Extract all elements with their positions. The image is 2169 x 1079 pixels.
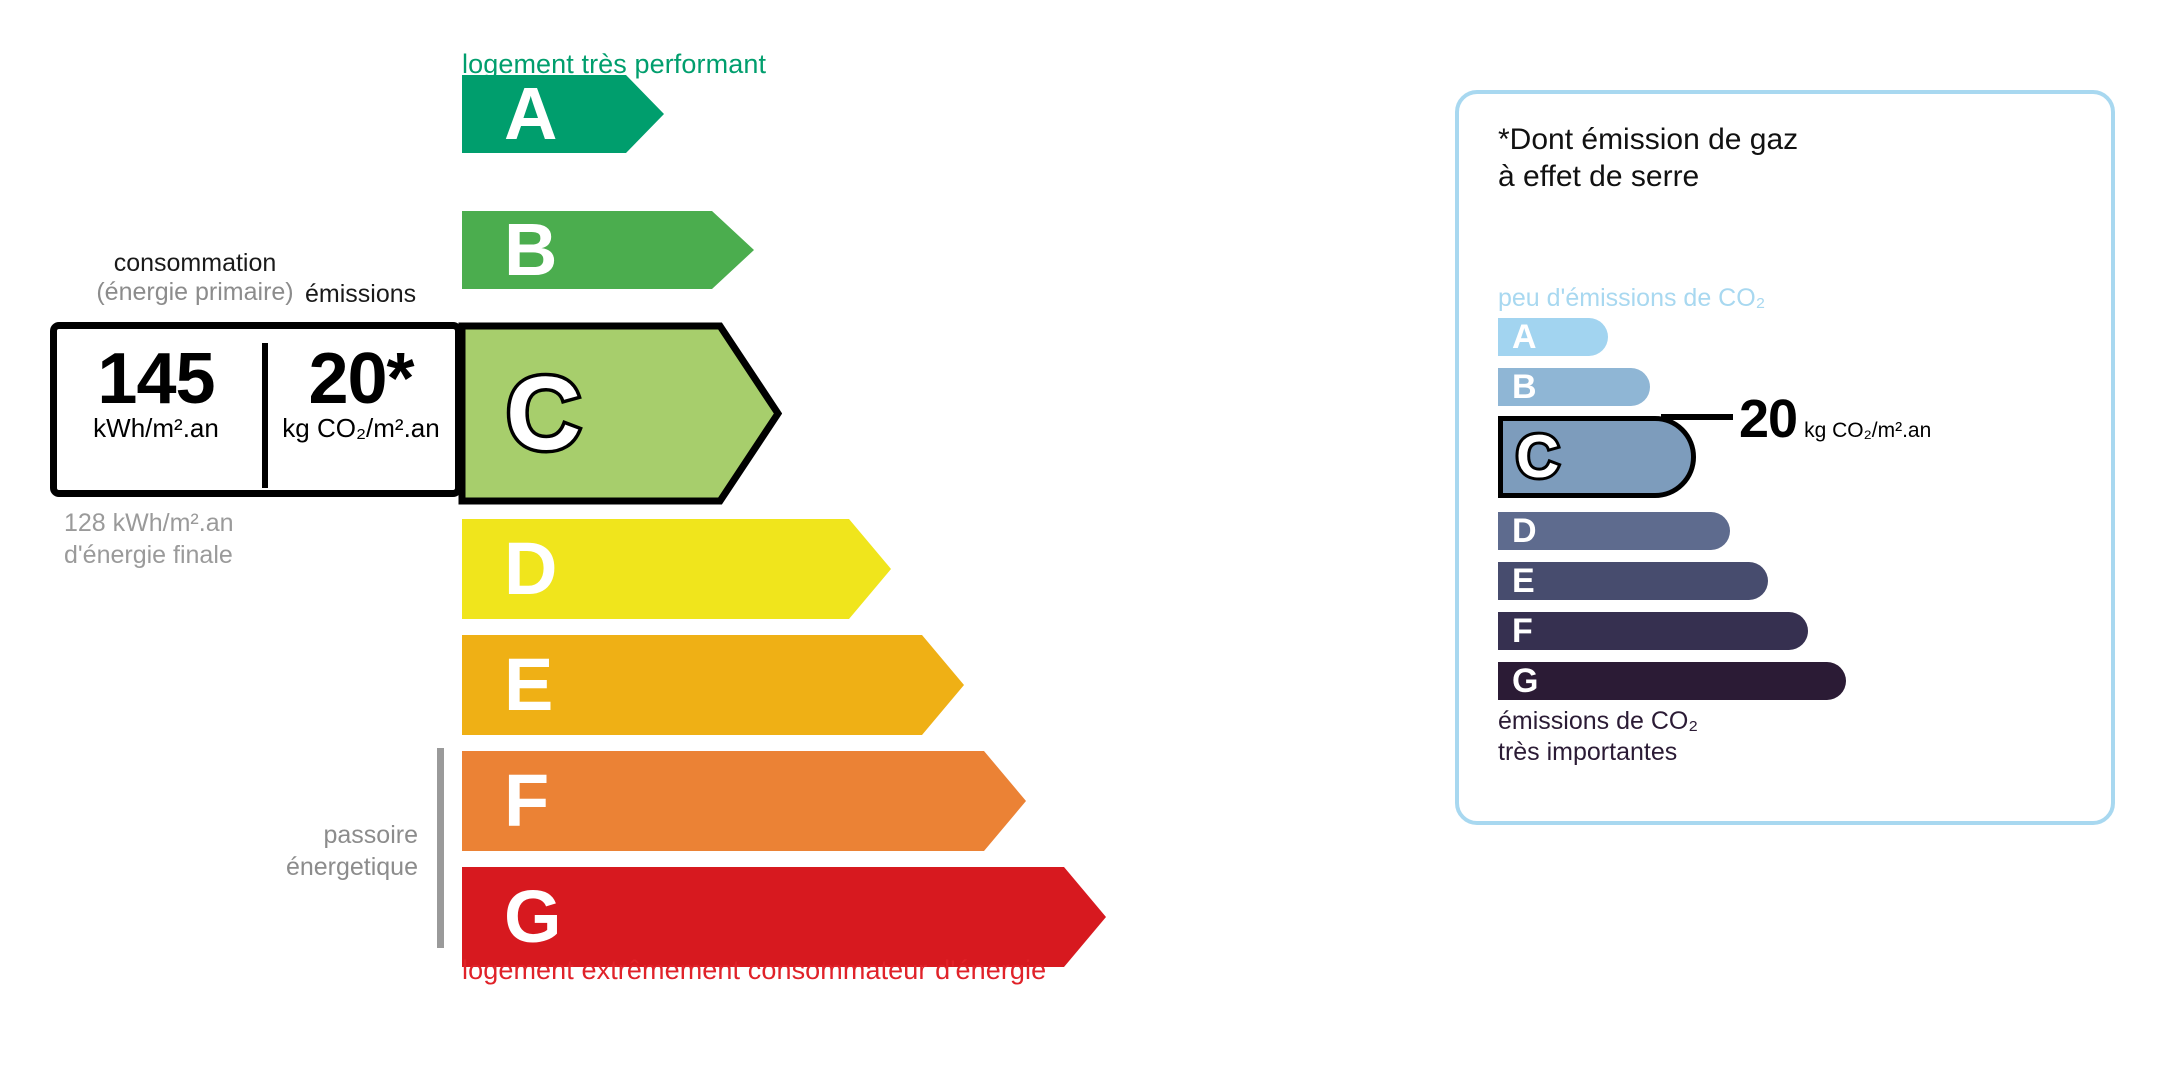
- co2-bar-a: A: [1498, 318, 1608, 356]
- co2-grade-letter-d: D: [1512, 514, 1537, 548]
- co2-emissions-panel: *Dont émission de gaz à effet de serre p…: [1455, 90, 2115, 825]
- co2-bottom-line1: émissions de CO₂: [1498, 706, 1698, 737]
- energy-grade-letter-e: E: [504, 648, 553, 722]
- energy-arrow-b: B: [462, 211, 754, 289]
- passoire-line1: passoire: [230, 820, 418, 852]
- final-energy-note: 128 kWh/m².an d'énergie finale: [64, 508, 234, 571]
- co2-bottom-line2: très importantes: [1498, 737, 1698, 768]
- co2-bar-b: B: [1498, 368, 1650, 406]
- energy-arrow-e: E: [462, 635, 964, 735]
- arrow-shape-a: [462, 75, 664, 153]
- co2-panel-title: *Dont émission de gaz à effet de serre: [1498, 122, 1798, 195]
- energy-bottom-caption: logement extrêmement consommateur d'éner…: [462, 955, 1046, 986]
- final-energy-label: d'énergie finale: [64, 540, 234, 572]
- co2-grade-letter-c: C: [1516, 427, 1559, 487]
- consumption-header: consommation (énergie primaire): [70, 249, 320, 307]
- consumption-unit: kWh/m².an: [57, 414, 255, 443]
- value-box: 145 kWh/m².an 20* kg CO₂/m².an: [50, 322, 462, 497]
- co2-grade-letter-a: A: [1512, 320, 1537, 354]
- co2-callout: 20kg CO₂/m².an: [1739, 388, 1931, 450]
- co2-bar-shape-g: [1498, 662, 1846, 700]
- energy-arrow-f: F: [462, 751, 1026, 851]
- co2-grade-letter-f: F: [1512, 614, 1533, 648]
- co2-bar-shape-e: [1498, 562, 1768, 600]
- consumption-value: 145: [57, 343, 255, 416]
- passoire-bracket: [437, 748, 444, 948]
- energy-grade-letter-f: F: [504, 764, 549, 838]
- consumption-value-cell: 145 kWh/m².an: [57, 343, 255, 443]
- co2-title-line2: à effet de serre: [1498, 159, 1798, 196]
- co2-callout-value: 20: [1739, 389, 1797, 449]
- energy-arrow-d: D: [462, 519, 891, 619]
- co2-grade-letter-g: G: [1512, 664, 1538, 698]
- co2-callout-unit: kg CO₂/m².an: [1804, 419, 1931, 442]
- energy-grade-letter-a: A: [504, 77, 557, 151]
- co2-bar-c: C: [1498, 416, 1696, 498]
- final-energy-value: 128 kWh/m².an: [64, 508, 234, 540]
- emissions-header: émissions: [305, 280, 416, 309]
- passoire-line2: énergetique: [230, 852, 418, 884]
- co2-grade-letter-e: E: [1512, 564, 1535, 598]
- emissions-value: 20*: [262, 343, 460, 416]
- energy-grade-letter-c: C: [506, 362, 581, 466]
- energy-arrow-a: A: [462, 75, 664, 153]
- emissions-value-cell: 20* kg CO₂/m².an: [262, 343, 460, 443]
- co2-bar-shape-f: [1498, 612, 1808, 650]
- co2-bottom-caption: émissions de CO₂ très importantes: [1498, 706, 1698, 767]
- energy-arrow-g: G: [462, 867, 1106, 967]
- co2-title-line1: *Dont émission de gaz: [1498, 122, 1798, 159]
- energy-arrow-c: C: [458, 322, 782, 505]
- co2-top-caption: peu d'émissions de CO₂: [1498, 284, 1765, 313]
- energy-grade-letter-b: B: [504, 213, 557, 287]
- emissions-unit: kg CO₂/m².an: [262, 414, 460, 443]
- energy-performance-label: logement très performant consommation (é…: [0, 0, 1400, 1079]
- co2-leader-line: [1661, 414, 1733, 420]
- energy-grade-letter-g: G: [504, 880, 562, 954]
- co2-bar-e: E: [1498, 562, 1768, 600]
- co2-grade-letter-b: B: [1512, 370, 1537, 404]
- co2-bar-f: F: [1498, 612, 1808, 650]
- consumption-header-title: consommation: [114, 249, 277, 277]
- co2-bar-d: D: [1498, 512, 1730, 550]
- co2-bar-g: G: [1498, 662, 1846, 700]
- energy-grade-letter-d: D: [504, 532, 557, 606]
- passoire-label: passoire énergetique: [230, 820, 418, 883]
- consumption-header-subtitle: (énergie primaire): [70, 278, 320, 307]
